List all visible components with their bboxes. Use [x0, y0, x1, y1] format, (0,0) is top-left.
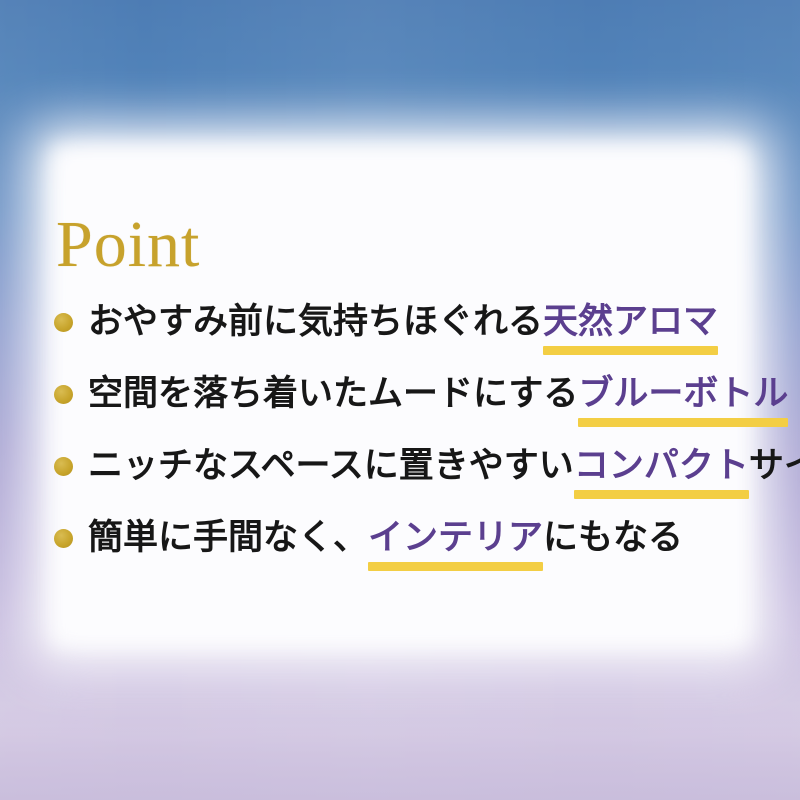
bullet-text-segment: にもなる — [543, 518, 683, 557]
bullet-text: おやすみ前に気持ちほぐれる天然アロマ — [88, 300, 784, 346]
bullet-text: ニッチなスペースに置きやすいコンパクトサイズ — [88, 444, 800, 490]
bullet-text: 簡単に手間なく、インテリアにもなる — [88, 516, 784, 562]
bullet-item: ニッチなスペースに置きやすいコンパクトサイズ — [54, 444, 784, 516]
promo-slide: Point おやすみ前に気持ちほぐれる天然アロマ空間を落ち着いたムードにするブル… — [0, 0, 800, 800]
highlighted-keyword: 天然アロマ — [543, 300, 718, 346]
bullet-text: 空間を落ち着いたムードにするブルーボトル — [88, 372, 788, 418]
bullet-dot-icon — [54, 313, 73, 332]
bullet-item: 空間を落ち着いたムードにするブルーボトル — [54, 372, 784, 444]
bullet-text-segment: ニッチなスペースに置きやすい — [88, 446, 574, 485]
bullet-item: おやすみ前に気持ちほぐれる天然アロマ — [54, 300, 784, 372]
highlighted-keyword: ブルーボトル — [578, 372, 788, 418]
page-title: Point — [56, 212, 200, 278]
highlighted-keyword: コンパクト — [574, 444, 749, 490]
bullet-list: おやすみ前に気持ちほぐれる天然アロマ空間を落ち着いたムードにするブルーボトルニッ… — [54, 300, 784, 588]
bullet-text-segment: おやすみ前に気持ちほぐれる — [88, 302, 543, 341]
bullet-text-segment: 空間を落ち着いたムードにする — [88, 374, 578, 413]
bullet-item: 簡単に手間なく、インテリアにもなる — [54, 516, 784, 588]
bullet-text-segment: 簡単に手間なく、 — [88, 518, 368, 557]
bullet-dot-icon — [54, 385, 73, 404]
card-content: Point おやすみ前に気持ちほぐれる天然アロマ空間を落ち着いたムードにするブル… — [0, 0, 800, 800]
bullet-dot-icon — [54, 457, 73, 476]
highlighted-keyword: インテリア — [368, 516, 543, 562]
bullet-text-segment: サイズ — [749, 446, 800, 485]
bullet-dot-icon — [54, 529, 73, 548]
